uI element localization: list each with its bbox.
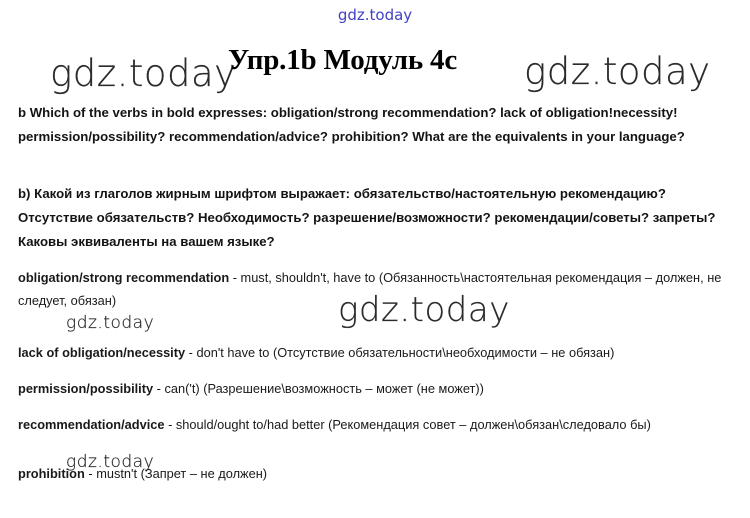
answer-row: recommendation/advice - should/ought to/… xyxy=(18,413,734,436)
answer-separator: - xyxy=(229,270,240,285)
answer-label: prohibition xyxy=(18,466,85,481)
answer-text: should/ought to/had better (Рекомендация… xyxy=(176,417,651,432)
answer-text: can('t) (Разрешение\возможность – может … xyxy=(165,381,484,396)
answer-separator: - xyxy=(153,381,164,396)
answer-row: lack of obligation/necessity - don't hav… xyxy=(18,341,734,364)
watermark-top: gdz.today xyxy=(0,6,750,24)
watermark-header-left: gdz.today xyxy=(50,52,237,95)
answer-label: obligation/strong recommendation xyxy=(18,270,229,285)
answer-separator: - xyxy=(185,345,196,360)
answer-row: obligation/strong recommendation - must,… xyxy=(18,266,734,312)
page-title: Упр.1b Модуль 4c xyxy=(228,44,457,77)
answer-label: recommendation/advice xyxy=(18,417,165,432)
answer-list: obligation/strong recommendation - must,… xyxy=(18,266,734,485)
answer-text: mustn't (Запрет – не должен) xyxy=(96,466,267,481)
answer-label: permission/possibility xyxy=(18,381,153,396)
answer-row: permission/possibility - can('t) (Разреш… xyxy=(18,377,734,400)
answer-separator: - xyxy=(165,417,176,432)
answer-row: prohibition - mustn't (Запрет – не долже… xyxy=(18,462,734,485)
watermark-header-right: gdz.today xyxy=(524,50,711,93)
question-russian: b) Какой из глаголов жирным шрифтом выра… xyxy=(18,182,730,254)
answer-text: don't have to (Отсутствие обязательности… xyxy=(197,345,615,360)
answer-label: lack of obligation/necessity xyxy=(18,345,185,360)
answer-separator: - xyxy=(85,466,96,481)
question-english: b Which of the verbs in bold expresses: … xyxy=(18,101,730,149)
